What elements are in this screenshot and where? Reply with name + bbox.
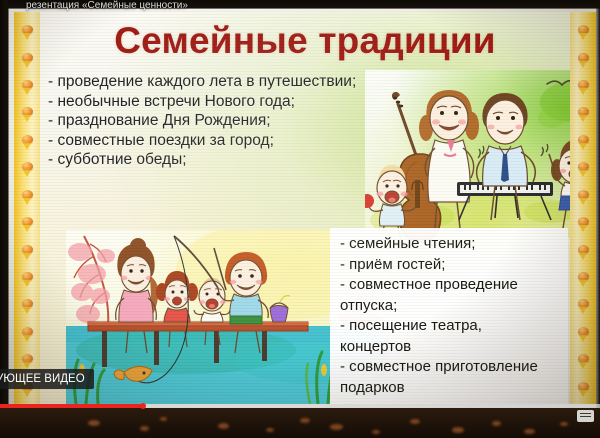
next-video-tooltip[interactable]: СЛЕДУЮЩЕЕ ВИДЕО xyxy=(0,369,94,389)
list-item: концертов xyxy=(340,337,564,358)
bead-icon xyxy=(578,382,589,391)
bead-icon xyxy=(578,107,589,116)
video-title-overlay: резентация «Семейные ценности» xyxy=(26,0,188,11)
bead-icon xyxy=(578,135,589,144)
bead-icon xyxy=(578,162,589,171)
bead-icon xyxy=(22,135,33,144)
bead-icon xyxy=(22,107,33,116)
list-item: - необычные встречи Нового года; xyxy=(48,92,378,112)
letterbox-right xyxy=(596,0,600,438)
traditions-list-right: - семейные чтения; - приём гостей; - сов… xyxy=(340,234,564,398)
list-item: - совместное проведение xyxy=(340,275,564,296)
list-item: подарков xyxy=(340,378,564,399)
bead-icon xyxy=(22,272,33,281)
right-border-ribbon xyxy=(570,12,596,404)
projected-slide-photo: Семейные традиции - проведение каждого л… xyxy=(8,8,600,408)
family-band-illustration xyxy=(365,70,596,245)
video-progress-bar[interactable] xyxy=(0,404,600,408)
bead-icon xyxy=(22,299,33,308)
left-border-ribbon xyxy=(14,12,40,404)
list-item: - совместное приготовление xyxy=(340,357,564,378)
bead-icon xyxy=(22,217,33,226)
list-item: отпуска; xyxy=(340,296,564,317)
bead-icon xyxy=(578,80,589,89)
bead-icon xyxy=(578,354,589,363)
ribbon-beads-right xyxy=(570,12,596,404)
bead-icon xyxy=(22,245,33,254)
bead-icon xyxy=(22,327,33,336)
list-item: - посещение театра, xyxy=(340,316,564,337)
traditions-list-left: - проведение каждого лета в путешествии;… xyxy=(48,72,378,170)
ribbon-beads-left xyxy=(14,12,40,404)
letterbox-bottom xyxy=(0,408,600,438)
bead-icon xyxy=(22,162,33,171)
list-item: - совместные поездки за город; xyxy=(48,131,378,151)
bead-icon xyxy=(578,245,589,254)
list-item: - празднование Дня Рождения; xyxy=(48,111,378,131)
bead-icon xyxy=(578,25,589,34)
list-item: - семейные чтения; xyxy=(340,234,564,255)
list-item: - приём гостей; xyxy=(340,255,564,276)
progress-played xyxy=(0,404,143,408)
bead-icon xyxy=(578,217,589,226)
presentation-slide: Семейные традиции - проведение каждого л… xyxy=(14,12,596,404)
bead-icon xyxy=(22,190,33,199)
progress-scrubber-handle[interactable] xyxy=(140,403,146,409)
bead-icon xyxy=(578,327,589,336)
bead-icon xyxy=(578,190,589,199)
subtitles-icon[interactable] xyxy=(577,410,594,422)
bead-icon xyxy=(578,272,589,281)
blossom-tree-icon xyxy=(68,236,115,326)
list-item: - субботние обеды; xyxy=(48,150,378,170)
bead-icon xyxy=(22,354,33,363)
bead-icon xyxy=(578,53,589,62)
bead-icon xyxy=(22,53,33,62)
list-item: - проведение каждого лета в путешествии; xyxy=(48,72,378,92)
bead-icon xyxy=(22,80,33,89)
bead-icon xyxy=(578,299,589,308)
slide-title: Семейные традиции xyxy=(40,20,570,62)
bead-icon xyxy=(22,25,33,34)
slide-content-area: Семейные традиции - проведение каждого л… xyxy=(40,12,570,404)
video-player[interactable]: Семейные традиции - проведение каждого л… xyxy=(0,0,600,438)
band-drawing xyxy=(365,70,596,245)
traditions-panel-right: - семейные чтения; - приём гостей; - сов… xyxy=(330,228,568,404)
